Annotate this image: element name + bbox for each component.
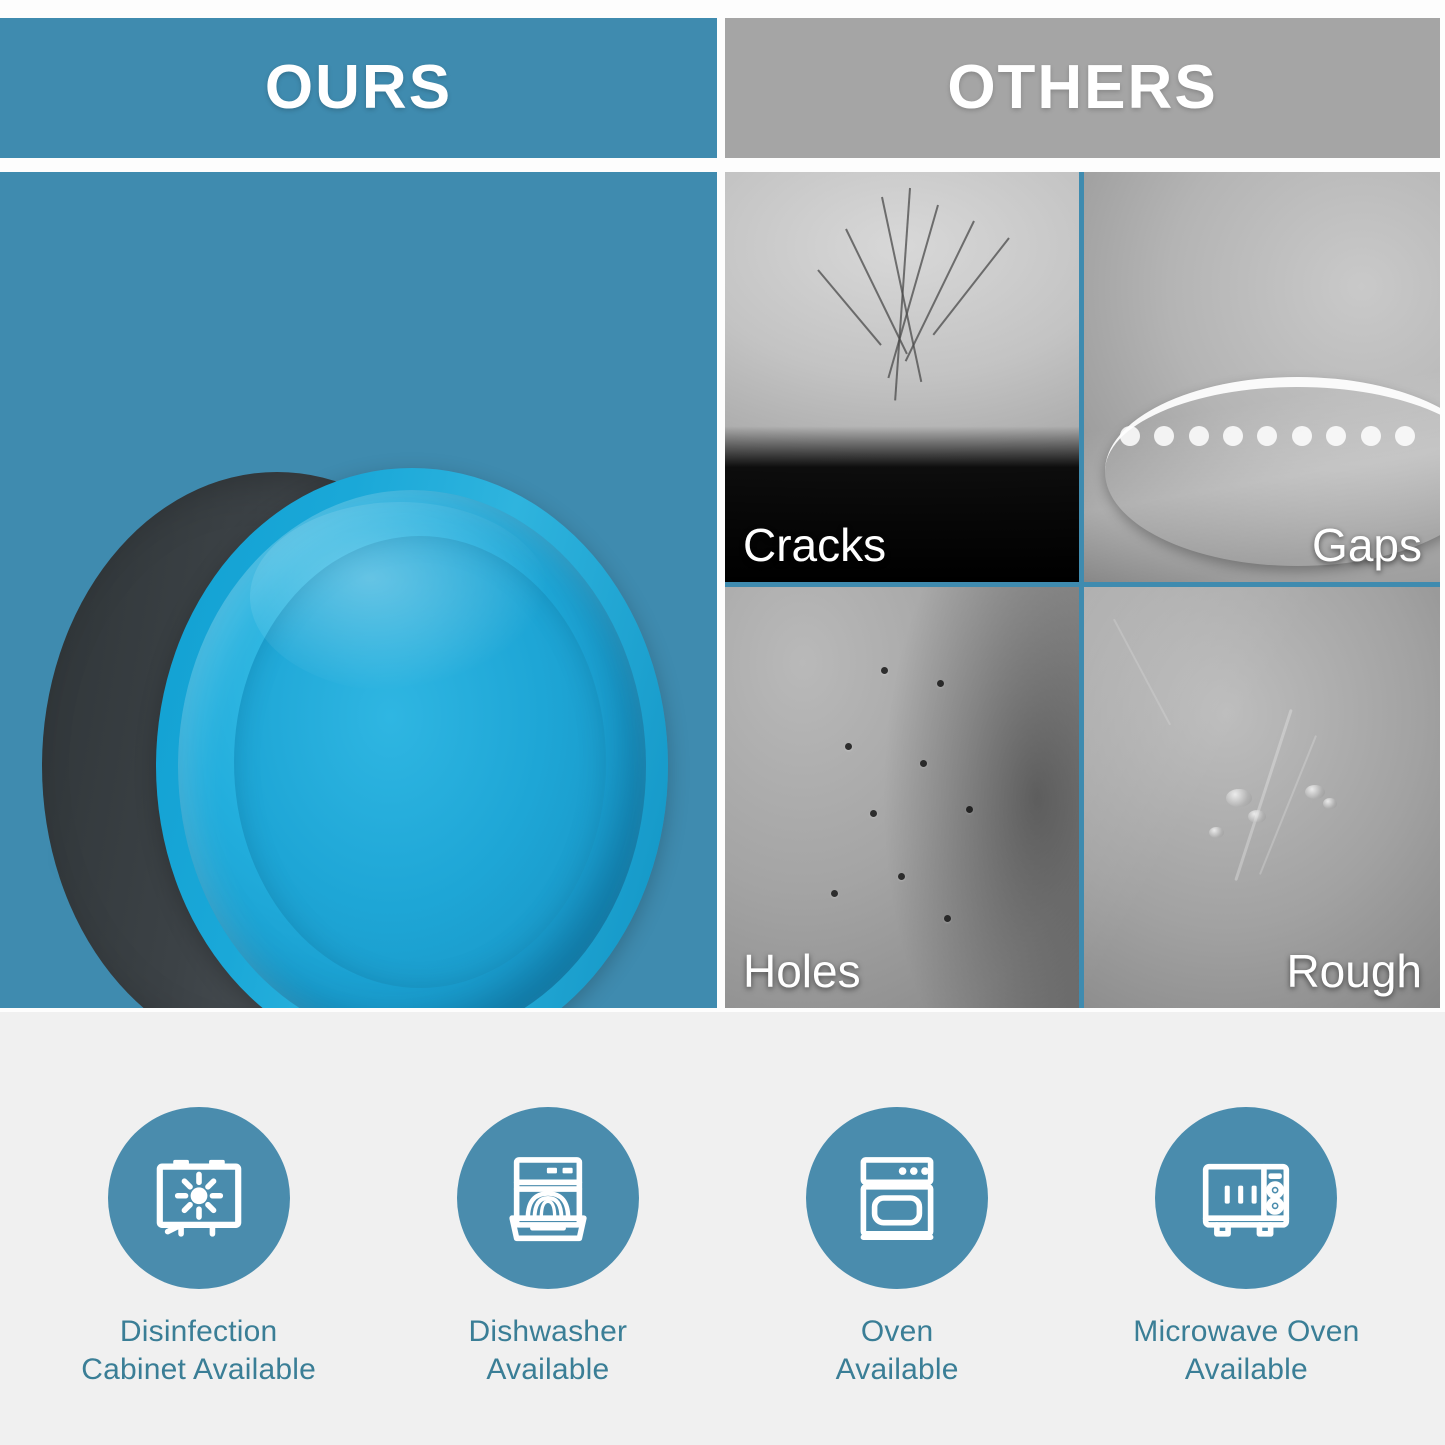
feature-oven[interactable]: Oven Available — [732, 1012, 1062, 1388]
feature-strip: Disinfection Cabinet Available Dishw — [0, 1012, 1445, 1445]
others-header-band: OTHERS — [725, 18, 1440, 158]
feature-icon-badge — [457, 1107, 639, 1289]
feature-dishwasher[interactable]: Dishwasher Available — [383, 1012, 713, 1388]
feature-label: Oven Available — [836, 1313, 959, 1388]
defect-label-holes: Holes — [743, 948, 861, 994]
defect-cell-rough: Rough — [1084, 587, 1440, 1008]
others-defect-grid: Cracks Gaps — [725, 172, 1440, 1008]
ours-product-panel — [0, 172, 717, 1008]
feature-microwave-oven[interactable]: Microwave Oven Available — [1081, 1012, 1411, 1388]
defect-label-cracks: Cracks — [743, 522, 886, 568]
gaps-notches — [1120, 426, 1433, 452]
defect-label-rough: Rough — [1286, 948, 1422, 994]
feature-label: Disinfection Cabinet Available — [81, 1313, 316, 1388]
feature-icon-badge — [1155, 1107, 1337, 1289]
defect-cell-gaps: Gaps — [1084, 172, 1440, 582]
feature-disinfection-cabinet[interactable]: Disinfection Cabinet Available — [34, 1012, 364, 1388]
microwave-oven-icon — [1190, 1142, 1302, 1254]
disinfection-cabinet-icon — [143, 1142, 255, 1254]
feature-label: Dishwasher Available — [469, 1313, 628, 1388]
comparison-section: OURS OTHERS — [0, 0, 1445, 1012]
feature-label: Microwave Oven Available — [1133, 1313, 1359, 1388]
defect-cell-holes: Holes — [725, 587, 1079, 1008]
others-header-label: OTHERS — [947, 57, 1217, 119]
feature-icon-badge — [806, 1107, 988, 1289]
ours-header-label: OURS — [265, 57, 452, 119]
ours-header-band: OURS — [0, 18, 717, 158]
oven-icon — [841, 1142, 953, 1254]
dishwasher-icon — [492, 1142, 604, 1254]
pan-highlight — [250, 502, 550, 692]
product-image — [0, 172, 717, 1008]
infographic-page: OURS OTHERS — [0, 0, 1445, 1445]
defect-cell-cracks: Cracks — [725, 172, 1079, 582]
feature-icon-badge — [108, 1107, 290, 1289]
defect-label-gaps: Gaps — [1312, 522, 1422, 568]
